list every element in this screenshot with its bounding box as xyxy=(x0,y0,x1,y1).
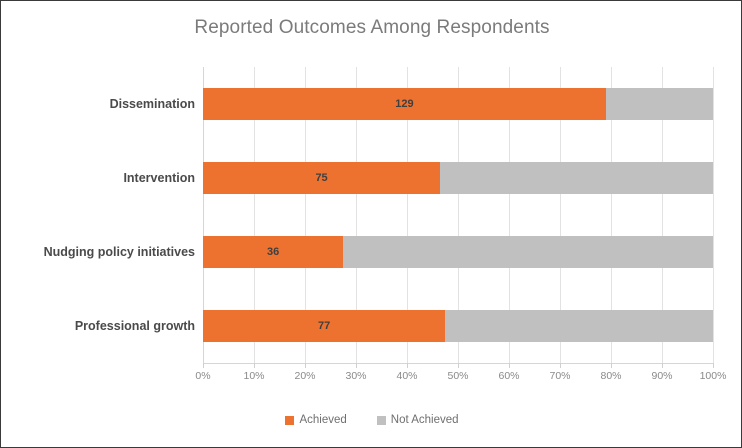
legend-item[interactable]: Not Achieved xyxy=(377,414,459,426)
category-label: Nudging policy initiatives xyxy=(5,236,195,268)
x-tick-label: 30% xyxy=(345,370,366,382)
bar-segment-achieved[interactable]: 75 xyxy=(203,162,440,194)
bar-row: 75 xyxy=(203,162,713,194)
x-tick xyxy=(713,363,714,368)
bar-segment-not-achieved[interactable] xyxy=(343,236,713,268)
x-axis-ticks xyxy=(203,363,713,369)
x-axis-tick-labels: 0%10%20%30%40%50%60%70%80%90%100% xyxy=(203,370,713,386)
plot-area: 129753677 xyxy=(203,67,713,363)
x-tick xyxy=(662,363,663,368)
category-label: Intervention xyxy=(5,162,195,194)
chart-container: Reported Outcomes Among Respondents Diss… xyxy=(0,0,742,448)
chart-legend: AchievedNot Achieved xyxy=(1,414,742,426)
bar-row: 36 xyxy=(203,236,713,268)
bar-segment-achieved[interactable]: 36 xyxy=(203,236,343,268)
bar-segment-achieved[interactable]: 129 xyxy=(203,88,606,120)
x-tick xyxy=(611,363,612,368)
x-tick-label: 40% xyxy=(396,370,417,382)
x-tick-label: 100% xyxy=(700,370,727,382)
bar-row: 77 xyxy=(203,310,713,342)
legend-item[interactable]: Achieved xyxy=(285,414,346,426)
bar-data-label: 36 xyxy=(267,247,279,258)
bar-data-label: 75 xyxy=(315,173,327,184)
bar-data-label: 129 xyxy=(395,99,413,110)
x-tick-label: 90% xyxy=(651,370,672,382)
x-tick-label: 50% xyxy=(447,370,468,382)
legend-label: Not Achieved xyxy=(391,414,459,426)
bar-data-label: 77 xyxy=(318,321,330,332)
x-tick xyxy=(254,363,255,368)
x-tick xyxy=(203,363,204,368)
chart-title: Reported Outcomes Among Respondents xyxy=(1,17,742,39)
bar-segment-not-achieved[interactable] xyxy=(445,310,713,342)
x-tick-label: 70% xyxy=(549,370,570,382)
bar-segment-achieved[interactable]: 77 xyxy=(203,310,445,342)
x-tick-label: 0% xyxy=(195,370,210,382)
x-tick-label: 20% xyxy=(294,370,315,382)
x-tick-label: 60% xyxy=(498,370,519,382)
category-label: Dissemination xyxy=(5,88,195,120)
bar-segment-not-achieved[interactable] xyxy=(440,162,713,194)
legend-label: Achieved xyxy=(299,414,346,426)
gridline-100 xyxy=(713,67,714,363)
category-axis-labels: DisseminationInterventionNudging policy … xyxy=(1,67,195,363)
category-label: Professional growth xyxy=(5,310,195,342)
x-tick xyxy=(458,363,459,368)
x-tick xyxy=(305,363,306,368)
x-tick xyxy=(356,363,357,368)
x-tick xyxy=(407,363,408,368)
bar-segment-not-achieved[interactable] xyxy=(606,88,713,120)
x-tick-label: 80% xyxy=(600,370,621,382)
legend-swatch-icon xyxy=(377,416,386,425)
bar-row: 129 xyxy=(203,88,713,120)
x-tick-label: 10% xyxy=(243,370,264,382)
legend-swatch-icon xyxy=(285,416,294,425)
x-tick xyxy=(560,363,561,368)
x-tick xyxy=(509,363,510,368)
